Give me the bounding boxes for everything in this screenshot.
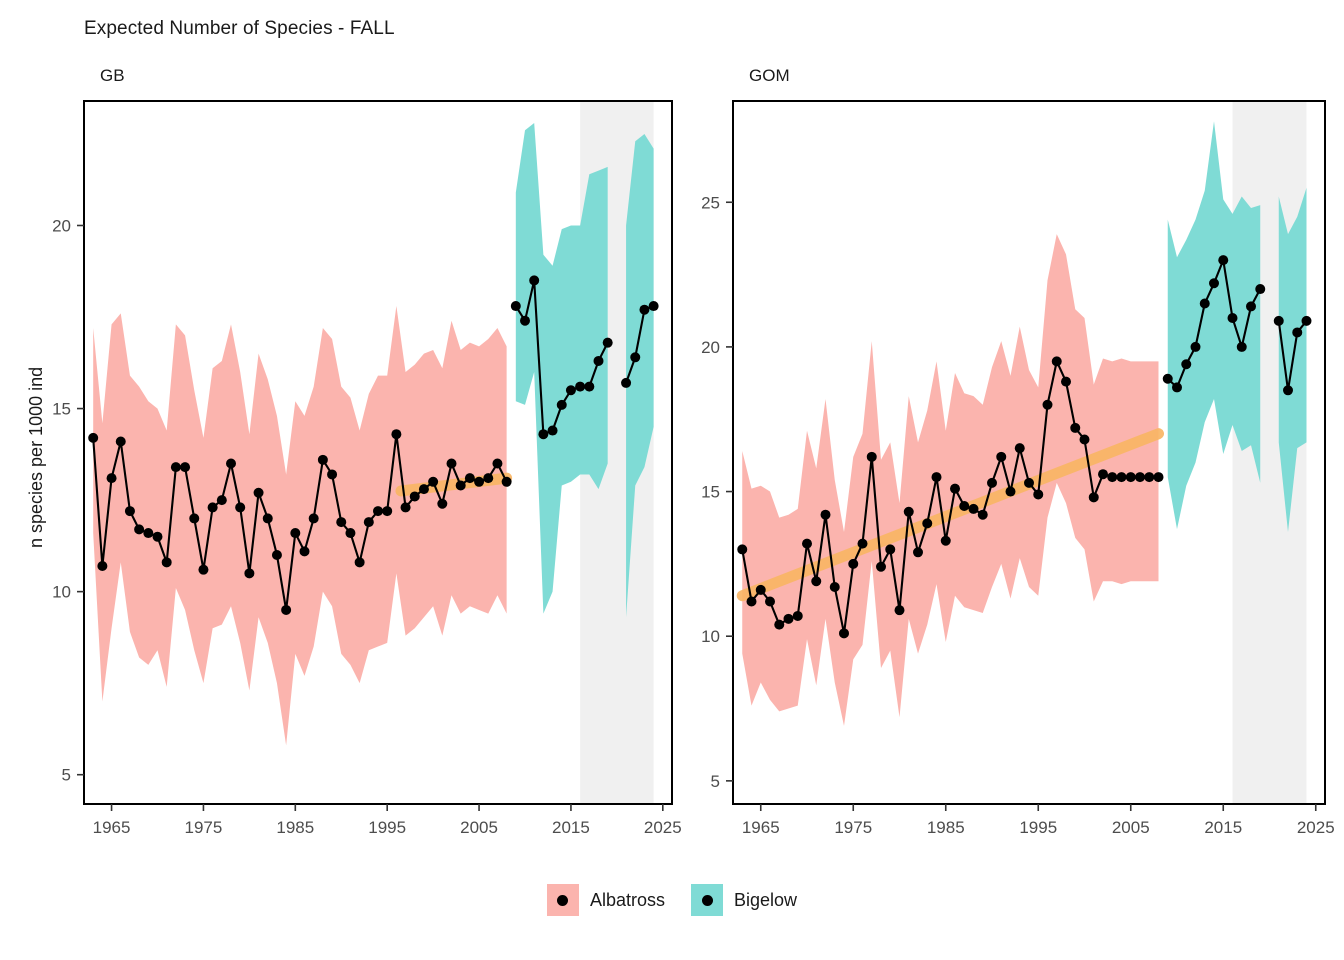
data-point bbox=[774, 620, 784, 630]
legend-key-swatch bbox=[691, 884, 723, 916]
data-point bbox=[198, 565, 208, 575]
data-point bbox=[272, 550, 282, 560]
y-tick-label: 25 bbox=[701, 193, 720, 212]
data-point bbox=[941, 536, 951, 546]
legend-label: Bigelow bbox=[734, 890, 797, 911]
x-tick-label: 2015 bbox=[552, 818, 590, 837]
data-point bbox=[575, 382, 585, 392]
data-point bbox=[802, 539, 812, 549]
data-point bbox=[125, 506, 135, 516]
data-point bbox=[437, 499, 447, 509]
chart-root: Expected Number of Species - FALL n spec… bbox=[0, 0, 1344, 960]
y-tick-label: 10 bbox=[52, 583, 71, 602]
data-point bbox=[401, 502, 411, 512]
panel-gb: 19651975198519952005201520255101520 bbox=[52, 101, 682, 837]
data-point bbox=[373, 506, 383, 516]
data-point bbox=[1070, 423, 1080, 433]
data-point bbox=[492, 458, 502, 468]
panel-gom: 1965197519851995200520152025510152025 bbox=[701, 101, 1335, 837]
data-point bbox=[1200, 299, 1210, 309]
data-point bbox=[88, 433, 98, 443]
legend-point-icon bbox=[702, 895, 713, 906]
data-point bbox=[364, 517, 374, 527]
data-point bbox=[959, 501, 969, 511]
data-point bbox=[987, 478, 997, 488]
data-point bbox=[134, 524, 144, 534]
data-point bbox=[318, 455, 328, 465]
data-point bbox=[1228, 313, 1238, 323]
data-point bbox=[511, 301, 521, 311]
data-point bbox=[336, 517, 346, 527]
data-point bbox=[765, 596, 775, 606]
data-point bbox=[97, 561, 107, 571]
data-point bbox=[913, 547, 923, 557]
data-point bbox=[162, 557, 172, 567]
data-point bbox=[465, 473, 475, 483]
chart-legend: AlbatrossBigelow bbox=[0, 884, 1344, 916]
data-point bbox=[737, 544, 747, 554]
data-point bbox=[428, 477, 438, 487]
data-point bbox=[811, 576, 821, 586]
data-point bbox=[566, 385, 576, 395]
data-point bbox=[1191, 342, 1201, 352]
x-tick-label: 1985 bbox=[927, 818, 965, 837]
y-tick-label: 5 bbox=[62, 766, 71, 785]
x-tick-label: 1995 bbox=[1019, 818, 1057, 837]
data-point bbox=[584, 382, 594, 392]
data-point bbox=[1024, 478, 1034, 488]
data-point bbox=[756, 585, 766, 595]
x-tick-label: 1975 bbox=[185, 818, 223, 837]
data-point bbox=[932, 472, 942, 482]
data-point bbox=[1033, 489, 1043, 499]
x-tick-label: 1995 bbox=[368, 818, 406, 837]
data-point bbox=[1172, 382, 1182, 392]
y-tick-label: 10 bbox=[701, 627, 720, 646]
data-point bbox=[153, 532, 163, 542]
legend-item-bigelow[interactable]: Bigelow bbox=[691, 884, 797, 916]
x-tick-label: 1965 bbox=[742, 818, 780, 837]
x-tick-label: 1985 bbox=[276, 818, 314, 837]
data-point bbox=[969, 504, 979, 514]
data-point bbox=[391, 429, 401, 439]
data-point bbox=[217, 495, 227, 505]
data-point bbox=[950, 484, 960, 494]
data-point bbox=[1181, 359, 1191, 369]
data-point bbox=[281, 605, 291, 615]
data-point bbox=[143, 528, 153, 538]
x-tick-label: 2005 bbox=[460, 818, 498, 837]
data-point bbox=[1080, 434, 1090, 444]
data-point bbox=[345, 528, 355, 538]
x-tick-label: 2015 bbox=[1204, 818, 1242, 837]
data-point bbox=[189, 513, 199, 523]
data-point bbox=[839, 628, 849, 638]
data-point bbox=[447, 458, 457, 468]
data-point bbox=[1144, 472, 1154, 482]
data-point bbox=[904, 507, 914, 517]
data-point bbox=[1098, 469, 1108, 479]
legend-label: Albatross bbox=[590, 890, 665, 911]
data-point bbox=[649, 301, 659, 311]
data-point bbox=[171, 462, 181, 472]
data-point bbox=[1015, 443, 1025, 453]
x-tick-label: 2005 bbox=[1112, 818, 1150, 837]
data-point bbox=[858, 539, 868, 549]
data-point bbox=[419, 484, 429, 494]
panel-label-gom: GOM bbox=[749, 66, 790, 86]
page-title: Expected Number of Species - FALL bbox=[84, 18, 395, 40]
data-point bbox=[1052, 356, 1062, 366]
y-tick-label: 20 bbox=[701, 338, 720, 357]
data-point bbox=[1274, 316, 1284, 326]
data-point bbox=[1255, 284, 1265, 294]
data-point bbox=[830, 582, 840, 592]
legend-item-albatross[interactable]: Albatross bbox=[547, 884, 665, 916]
data-point bbox=[254, 488, 264, 498]
data-point bbox=[300, 546, 310, 556]
data-point bbox=[603, 338, 613, 348]
data-point bbox=[327, 469, 337, 479]
data-point bbox=[538, 429, 548, 439]
data-point bbox=[107, 473, 117, 483]
data-point bbox=[244, 568, 254, 578]
data-point bbox=[1107, 472, 1117, 482]
data-point bbox=[1163, 374, 1173, 384]
data-point bbox=[1283, 385, 1293, 395]
data-point bbox=[821, 510, 831, 520]
panel-label-gb: GB bbox=[100, 66, 125, 86]
x-tick-label: 2025 bbox=[1297, 818, 1335, 837]
y-tick-label: 15 bbox=[701, 483, 720, 502]
data-point bbox=[529, 275, 539, 285]
data-point bbox=[456, 480, 466, 490]
data-point bbox=[1302, 316, 1312, 326]
data-point bbox=[502, 477, 512, 487]
chart-canvas: 1965197519851995200520152025510152019651… bbox=[0, 0, 1344, 880]
legend-key-swatch bbox=[547, 884, 579, 916]
data-point bbox=[630, 352, 640, 362]
data-point bbox=[1246, 301, 1256, 311]
x-tick-label: 1965 bbox=[93, 818, 131, 837]
data-point bbox=[180, 462, 190, 472]
data-point bbox=[1043, 400, 1053, 410]
data-point bbox=[594, 356, 604, 366]
data-point bbox=[895, 605, 905, 615]
data-point bbox=[867, 452, 877, 462]
data-point bbox=[996, 452, 1006, 462]
data-point bbox=[483, 473, 493, 483]
data-point bbox=[474, 477, 484, 487]
data-point bbox=[1061, 377, 1071, 387]
data-point bbox=[621, 378, 631, 388]
data-point bbox=[235, 502, 245, 512]
x-tick-label: 1975 bbox=[834, 818, 872, 837]
data-point bbox=[208, 502, 218, 512]
data-point bbox=[885, 544, 895, 554]
data-point bbox=[1237, 342, 1247, 352]
data-point bbox=[1218, 255, 1228, 265]
data-point bbox=[639, 305, 649, 315]
data-point bbox=[1006, 487, 1016, 497]
data-point bbox=[1126, 472, 1136, 482]
data-point bbox=[557, 400, 567, 410]
data-point bbox=[355, 557, 365, 567]
data-point bbox=[548, 426, 558, 436]
data-point bbox=[410, 491, 420, 501]
data-point bbox=[978, 510, 988, 520]
data-point bbox=[263, 513, 273, 523]
legend-point-icon bbox=[557, 895, 568, 906]
data-point bbox=[876, 562, 886, 572]
data-point bbox=[1292, 327, 1302, 337]
x-tick-label: 2025 bbox=[644, 818, 682, 837]
data-point bbox=[116, 437, 126, 447]
data-point bbox=[848, 559, 858, 569]
y-tick-label: 15 bbox=[52, 400, 71, 419]
data-point bbox=[1117, 472, 1127, 482]
data-point bbox=[1135, 472, 1145, 482]
y-tick-label: 5 bbox=[711, 772, 720, 791]
data-point bbox=[382, 506, 392, 516]
data-point bbox=[747, 596, 757, 606]
data-point bbox=[922, 518, 932, 528]
data-point bbox=[793, 611, 803, 621]
y-axis-title: n species per 1000 ind bbox=[26, 366, 47, 547]
y-tick-label: 20 bbox=[52, 216, 71, 235]
data-point bbox=[1154, 472, 1164, 482]
data-point bbox=[784, 614, 794, 624]
data-point bbox=[309, 513, 319, 523]
data-point bbox=[520, 316, 530, 326]
data-point bbox=[1209, 278, 1219, 288]
data-point bbox=[226, 458, 236, 468]
data-point bbox=[1089, 492, 1099, 502]
data-point bbox=[290, 528, 300, 538]
